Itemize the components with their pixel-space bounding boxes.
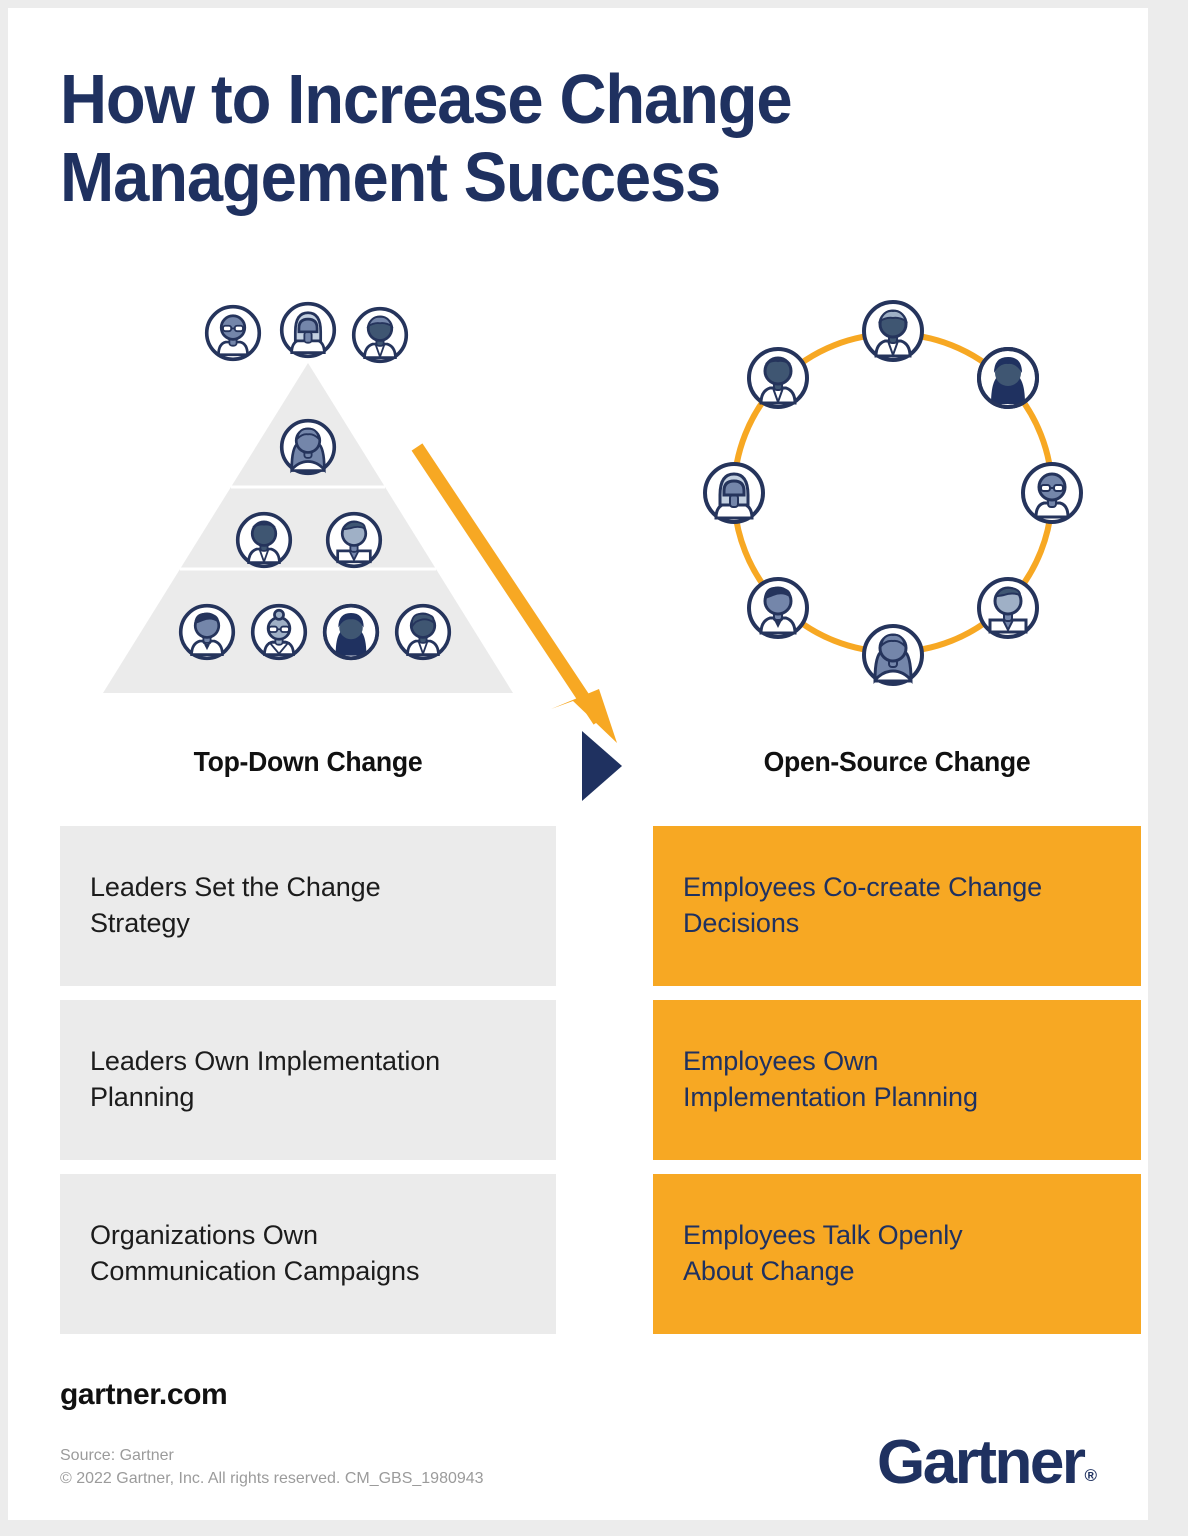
pyramid-avatar-3 bbox=[351, 306, 409, 364]
play-triangle-icon bbox=[582, 731, 622, 801]
pyramid-avatar-1 bbox=[204, 304, 262, 362]
top-down-arrow-icon bbox=[403, 433, 643, 763]
page-title: How to Increase Change Management Succes… bbox=[60, 60, 953, 217]
circle-avatar-5 bbox=[861, 623, 925, 687]
open-source-circle bbox=[698, 298, 1088, 698]
circle-avatar-3 bbox=[1020, 461, 1084, 525]
gartner-logo: Gartner® bbox=[877, 1432, 1096, 1494]
registered-trademark-icon: ® bbox=[1084, 1466, 1097, 1485]
pyramid-avatar-5 bbox=[235, 511, 293, 569]
top-down-pyramid bbox=[103, 363, 513, 693]
pyramid-avatar-2 bbox=[279, 301, 337, 359]
source-and-copyright: Source: Gartner © 2022 Gartner, Inc. All… bbox=[60, 1444, 484, 1490]
circle-avatar-2 bbox=[976, 346, 1040, 410]
pyramid-avatar-9 bbox=[322, 603, 380, 661]
top-down-item-1: Leaders Set the Change Strategy bbox=[60, 826, 556, 986]
open-source-item-3: Employees Talk Openly About Change bbox=[653, 1174, 1141, 1334]
top-down-item-2: Leaders Own Implementation Planning bbox=[60, 1000, 556, 1160]
pyramid-avatar-8 bbox=[250, 603, 308, 661]
diagram-band bbox=[8, 278, 1148, 708]
column-header-top-down: Top-Down Change bbox=[72, 746, 543, 778]
pyramid-avatar-7 bbox=[178, 603, 236, 661]
top-down-item-3: Organizations Own Communication Campaign… bbox=[60, 1174, 556, 1334]
circle-avatar-8 bbox=[746, 346, 810, 410]
circle-avatar-1 bbox=[861, 299, 925, 363]
infographic-canvas: How to Increase Change Management Succes… bbox=[8, 8, 1148, 1520]
circle-avatar-6 bbox=[746, 576, 810, 640]
open-source-item-2: Employees Own Implementation Planning bbox=[653, 1000, 1141, 1160]
column-header-open-source: Open-Source Change bbox=[665, 746, 1129, 778]
open-source-item-1: Employees Co-create Change Decisions bbox=[653, 826, 1141, 986]
pyramid-avatar-6 bbox=[325, 511, 383, 569]
gartner-logo-text: Gartner bbox=[877, 1428, 1083, 1497]
circle-avatar-4 bbox=[976, 576, 1040, 640]
pyramid-avatar-4 bbox=[279, 418, 337, 476]
circle-avatar-7 bbox=[702, 461, 766, 525]
website-url[interactable]: gartner.com bbox=[60, 1378, 227, 1412]
infographic-page: How to Increase Change Management Succes… bbox=[0, 0, 1188, 1536]
